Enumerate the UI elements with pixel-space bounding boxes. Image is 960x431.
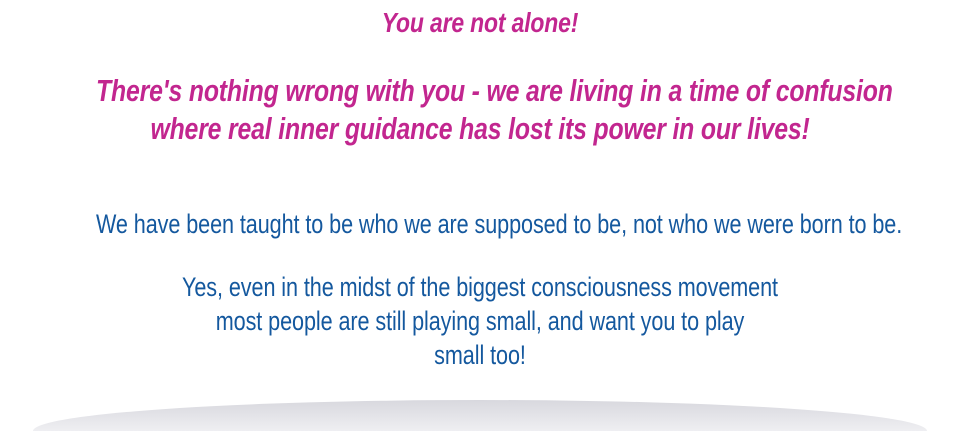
body-line-1: We have been taught to be who we are sup…: [96, 207, 864, 241]
bottom-ellipse-shadow: [33, 400, 927, 431]
body-line-3: most people are still playing small, and…: [96, 304, 864, 338]
headline-line-2: where real inner guidance has lost its p…: [96, 110, 864, 148]
body-line-2: Yes, even in the midst of the biggest co…: [96, 270, 864, 304]
body-line-4: small too!: [96, 338, 864, 372]
headline-line-1: There's nothing wrong with you - we are …: [96, 72, 864, 110]
body-paragraph-2: Yes, even in the midst of the biggest co…: [0, 241, 960, 372]
body-block: We have been taught to be who we are sup…: [0, 207, 960, 372]
headline-block: You are not alone! There's nothing wrong…: [0, 0, 960, 148]
body-paragraph-1: We have been taught to be who we are sup…: [0, 207, 960, 241]
headline-paragraph: There's nothing wrong with you - we are …: [0, 42, 960, 148]
promo-text-page: You are not alone! There's nothing wrong…: [0, 0, 960, 431]
headline-lead-line: You are not alone!: [86, 0, 873, 42]
